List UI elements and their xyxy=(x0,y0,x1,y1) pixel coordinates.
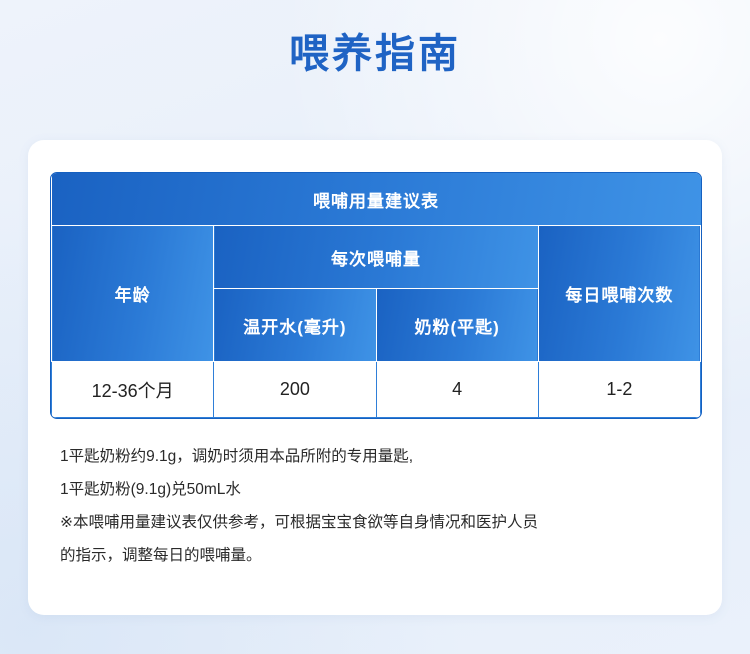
header-daily-times: 每日喂哺次数 xyxy=(538,226,700,362)
header-age: 年龄 xyxy=(52,226,214,362)
header-per-feed-group: 每次喂哺量 xyxy=(214,226,539,289)
table-caption: 喂哺用量建议表 xyxy=(52,173,701,226)
table-row: 12-36个月 200 4 1-2 xyxy=(52,362,701,418)
notes-block: 1平匙奶粉约9.1g，调奶时须用本品所附的专用量匙, 1平匙奶粉(9.1g)兑5… xyxy=(60,440,700,572)
header-powder: 奶粉(平匙) xyxy=(376,289,538,362)
feeding-table: 喂哺用量建议表 年龄 每次喂哺量 每日喂哺次数 温开水(毫升) 奶粉(平匙) 1… xyxy=(51,173,701,418)
note-line-3: ※本喂哺用量建议表仅供参考，可根据宝宝食欲等自身情况和医护人员 xyxy=(60,506,700,539)
cell-daily-times: 1-2 xyxy=(538,362,700,418)
cell-powder: 4 xyxy=(376,362,538,418)
note-line-2: 1平匙奶粉(9.1g)兑50mL水 xyxy=(60,473,700,506)
feeding-guide-card: 喂哺用量建议表 年龄 每次喂哺量 每日喂哺次数 温开水(毫升) 奶粉(平匙) 1… xyxy=(28,140,722,615)
feeding-table-container: 喂哺用量建议表 年龄 每次喂哺量 每日喂哺次数 温开水(毫升) 奶粉(平匙) 1… xyxy=(50,172,702,419)
table-caption-row: 喂哺用量建议表 xyxy=(52,173,701,226)
header-water: 温开水(毫升) xyxy=(214,289,376,362)
note-line-4: 的指示，调整每日的喂哺量。 xyxy=(60,539,700,572)
note-line-1: 1平匙奶粉约9.1g，调奶时须用本品所附的专用量匙, xyxy=(60,440,700,473)
page-title: 喂养指南 xyxy=(0,0,750,78)
table-header-row-top: 年龄 每次喂哺量 每日喂哺次数 xyxy=(52,226,701,289)
cell-age: 12-36个月 xyxy=(52,362,214,418)
cell-water: 200 xyxy=(214,362,376,418)
